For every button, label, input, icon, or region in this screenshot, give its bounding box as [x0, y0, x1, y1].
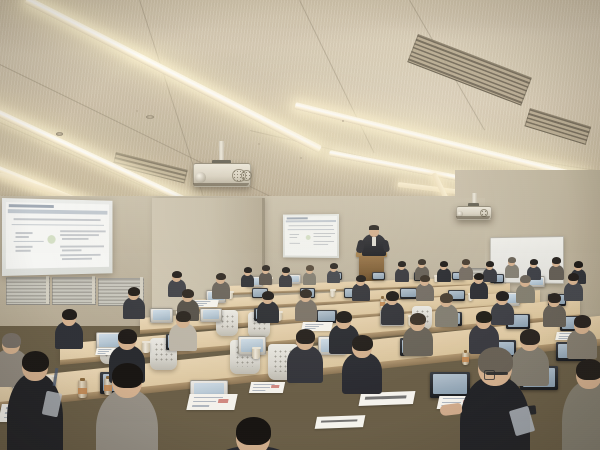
- attendee-body: [395, 268, 409, 282]
- paper-text-line: [98, 353, 106, 354]
- water-bottle: [462, 352, 469, 365]
- name-card: [315, 415, 366, 429]
- attendee-body: [342, 352, 382, 394]
- coffee-cup: [252, 348, 260, 359]
- attendee-hair: [398, 261, 406, 267]
- attendee-hair: [176, 311, 191, 322]
- attendee-hair: [552, 257, 561, 264]
- attendee-hair: [474, 273, 484, 280]
- attendee-hair: [486, 261, 494, 267]
- attendee-hair: [172, 271, 182, 278]
- attendee-body: [483, 268, 497, 282]
- attendee-hair: [462, 259, 470, 265]
- attendee-body: [416, 283, 434, 301]
- attendee-foreground-bottom-hair: [236, 417, 271, 445]
- device-screen[interactable]: [433, 374, 467, 394]
- attendee-body: [212, 281, 230, 299]
- laptop: [430, 372, 470, 398]
- attendee-foreground-right-hair: [576, 359, 600, 380]
- attendee-hair: [296, 329, 315, 344]
- attendee-hair: [568, 273, 579, 281]
- room-seating: [0, 0, 600, 450]
- attendee-foreground-suit-hair: [22, 351, 49, 372]
- device-screen[interactable]: [99, 334, 120, 346]
- tablet: [200, 308, 222, 322]
- attendee-body: [435, 304, 458, 327]
- bottle-cap: [80, 378, 85, 381]
- bottle-label: [78, 388, 87, 394]
- attendee-hair: [440, 261, 448, 267]
- coffee-cup-lid: [252, 347, 261, 349]
- attendee-hair: [2, 333, 21, 348]
- device-screen[interactable]: [373, 273, 384, 279]
- attendee-body: [381, 302, 404, 325]
- attendee-body: [511, 346, 549, 386]
- attendee-hair: [300, 289, 312, 298]
- attendee-body: [123, 297, 145, 319]
- water-bottle: [78, 380, 87, 398]
- attendee-body: [516, 284, 535, 303]
- coffee-cup: [142, 342, 150, 353]
- attendee-hair: [262, 291, 274, 300]
- attendee-hair: [420, 275, 430, 282]
- attendee-hair: [508, 257, 516, 263]
- attendee-hair: [410, 313, 426, 325]
- attendee-hair: [244, 267, 252, 273]
- attendee-hair: [352, 335, 373, 351]
- attendee-hair: [418, 259, 426, 265]
- attendee-body: [564, 282, 583, 301]
- attendee-hair: [356, 275, 366, 282]
- attendee-body: [470, 281, 488, 299]
- device-screen[interactable]: [318, 311, 336, 321]
- attendee-hair: [128, 287, 140, 296]
- name-card-text: [365, 396, 407, 400]
- hand: [439, 403, 462, 417]
- eyeglasses-lens-left: [484, 370, 495, 380]
- attendee-body: [505, 264, 519, 278]
- attendee-foreground-glasses-hair: [478, 347, 513, 375]
- attendee-body: [437, 268, 451, 282]
- coffee-cup-lid: [142, 341, 151, 343]
- bottle-cap: [464, 350, 468, 353]
- attendee-body: [459, 266, 473, 280]
- paper-text-line: [253, 390, 265, 391]
- bottle-cap: [381, 296, 384, 299]
- attendee-foreground-grey-body: [96, 389, 158, 450]
- attendee-hair: [216, 273, 226, 280]
- attendee-hair: [530, 259, 538, 265]
- seminar-room-photo: [0, 0, 600, 450]
- bottle-label: [462, 357, 469, 362]
- coffee-cup-lid: [330, 289, 336, 291]
- attendee-hair: [282, 267, 290, 273]
- attendee-hair: [548, 293, 561, 303]
- attendee-hair: [62, 309, 77, 320]
- attendee-body: [491, 302, 514, 325]
- tablet: [150, 308, 173, 323]
- attendee-body: [352, 283, 370, 301]
- attendee-hair: [182, 289, 194, 298]
- attendee-hair: [262, 265, 270, 271]
- attendee-hair: [336, 311, 352, 323]
- paper-text-line: [305, 326, 320, 327]
- paper-text-line: [193, 401, 216, 402]
- bottle-label: [104, 385, 112, 391]
- paper-text-line: [192, 405, 210, 406]
- paper-text-line: [253, 387, 270, 388]
- attendee-hair: [386, 291, 399, 301]
- attendee-hair: [476, 311, 492, 323]
- device-screen[interactable]: [401, 289, 415, 297]
- attendee-hair: [118, 329, 137, 344]
- attendee-foreground-right-body: [562, 381, 600, 450]
- handout-paper: [186, 394, 237, 410]
- attendee-hair: [306, 265, 314, 271]
- coffee-cup: [330, 290, 335, 297]
- paper-highlight: [271, 385, 279, 388]
- device-screen[interactable]: [203, 310, 220, 319]
- laptop: [372, 272, 385, 280]
- attendee-body: [287, 345, 323, 383]
- device-screen[interactable]: [153, 310, 171, 320]
- attendee-body: [257, 301, 279, 323]
- paper-text-line: [305, 324, 323, 325]
- laptop: [400, 288, 417, 299]
- attendee-hair: [330, 263, 338, 269]
- attendee-hair: [574, 261, 583, 268]
- attendee-body: [543, 304, 566, 327]
- paper-highlight: [218, 399, 229, 403]
- attendee-foreground-grey-hair: [112, 363, 143, 388]
- handout-paper: [249, 382, 285, 393]
- paper-text-line: [558, 338, 568, 339]
- name-card-text: [321, 419, 358, 422]
- attendee-body: [295, 299, 317, 321]
- attendee-hair: [574, 315, 591, 328]
- attendee-hair: [520, 275, 531, 283]
- attendee-body: [403, 326, 433, 356]
- attendee-hair: [496, 291, 509, 301]
- attendee-hair: [520, 329, 540, 345]
- attendee-hair: [440, 293, 453, 303]
